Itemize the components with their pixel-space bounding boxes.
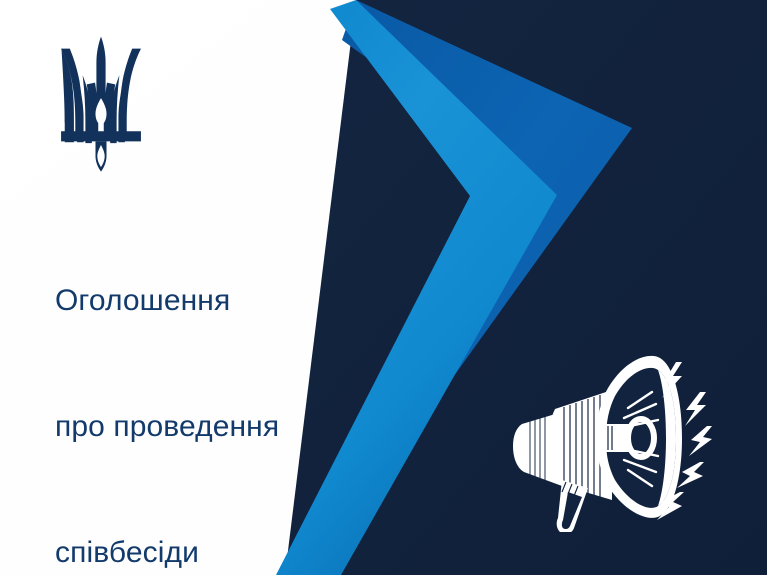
sound-wave-bolt-2 bbox=[685, 392, 706, 426]
announcement-poster: Оголошення про проведення співбесіди з к… bbox=[0, 0, 767, 575]
headline-line-1: Оголошення bbox=[55, 280, 355, 322]
trident-icon bbox=[55, 33, 147, 173]
ukraine-trident-emblem bbox=[55, 33, 147, 173]
sound-wave-bolt-3 bbox=[689, 426, 712, 456]
megaphone-icon bbox=[500, 352, 725, 532]
megaphone-illustration bbox=[500, 352, 725, 532]
headline-line-2: про проведення bbox=[55, 406, 355, 448]
page-title: Оголошення про проведення співбесіди з к… bbox=[55, 196, 355, 575]
sound-wave-bolt-4 bbox=[677, 462, 704, 488]
headline-line-3: співбесіди bbox=[55, 532, 355, 574]
